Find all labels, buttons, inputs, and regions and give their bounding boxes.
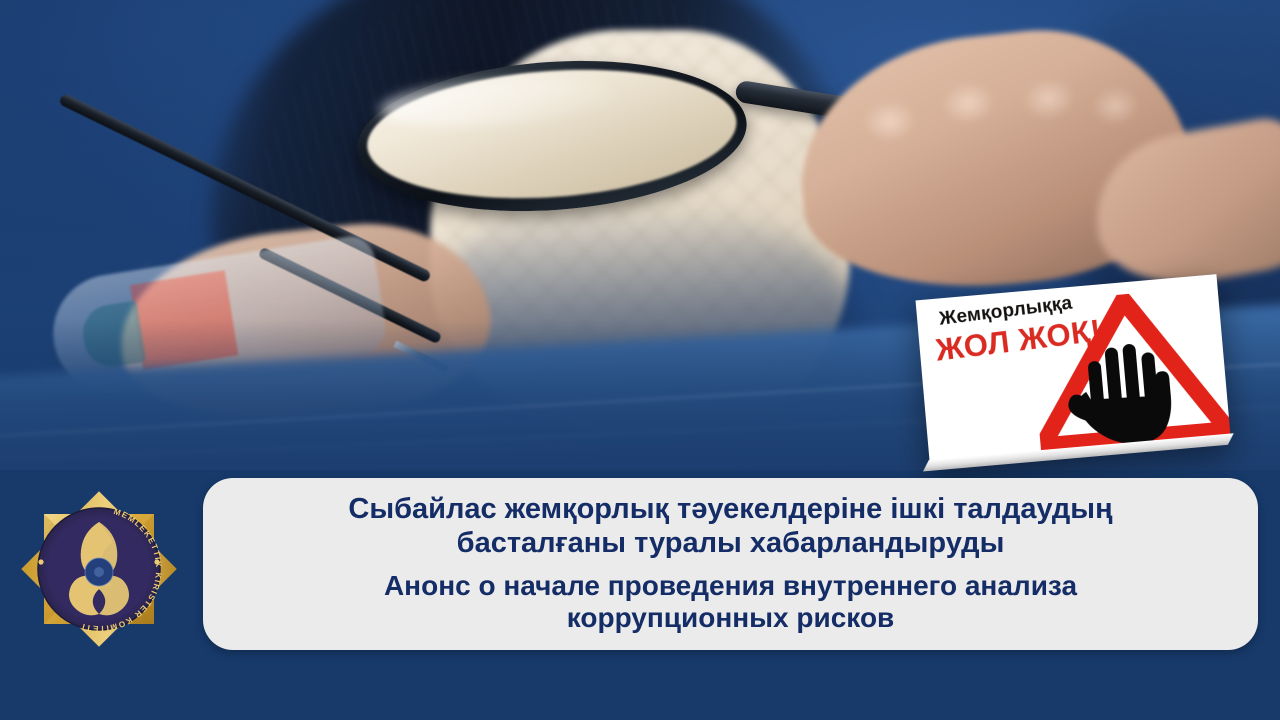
overlay-pen-red-band	[130, 270, 238, 370]
caption-kk-line-1: Сыбайлас жемқорлық тәуекелдеріне ішкі та…	[348, 493, 1112, 527]
magnifying-glass-icon	[352, 49, 751, 224]
anti-corruption-card: Жемқорлыққа ЖОЛ ЖОҚ!	[916, 274, 1231, 462]
caption-ru-line-2: коррупционных рисков	[567, 602, 895, 634]
caption-kk-line-2: басталғаны туралы хабарландыруды	[457, 527, 1005, 561]
state-revenue-committee-emblem: MEMLEKETTIK KIRISTER KOMITETI	[18, 488, 180, 650]
card-face: Жемқорлыққа ЖОЛ ЖОҚ!	[916, 274, 1231, 462]
caption-ru-line-1: Анонс о начале проведения внутреннего ан…	[384, 570, 1077, 602]
announcement-banner: Жемқорлыққа ЖОЛ ЖОҚ!	[0, 0, 1280, 720]
caption-panel: Сыбайлас жемқорлық тәуекелдеріне ішкі та…	[203, 478, 1258, 650]
stop-hand-icon	[1059, 326, 1187, 454]
